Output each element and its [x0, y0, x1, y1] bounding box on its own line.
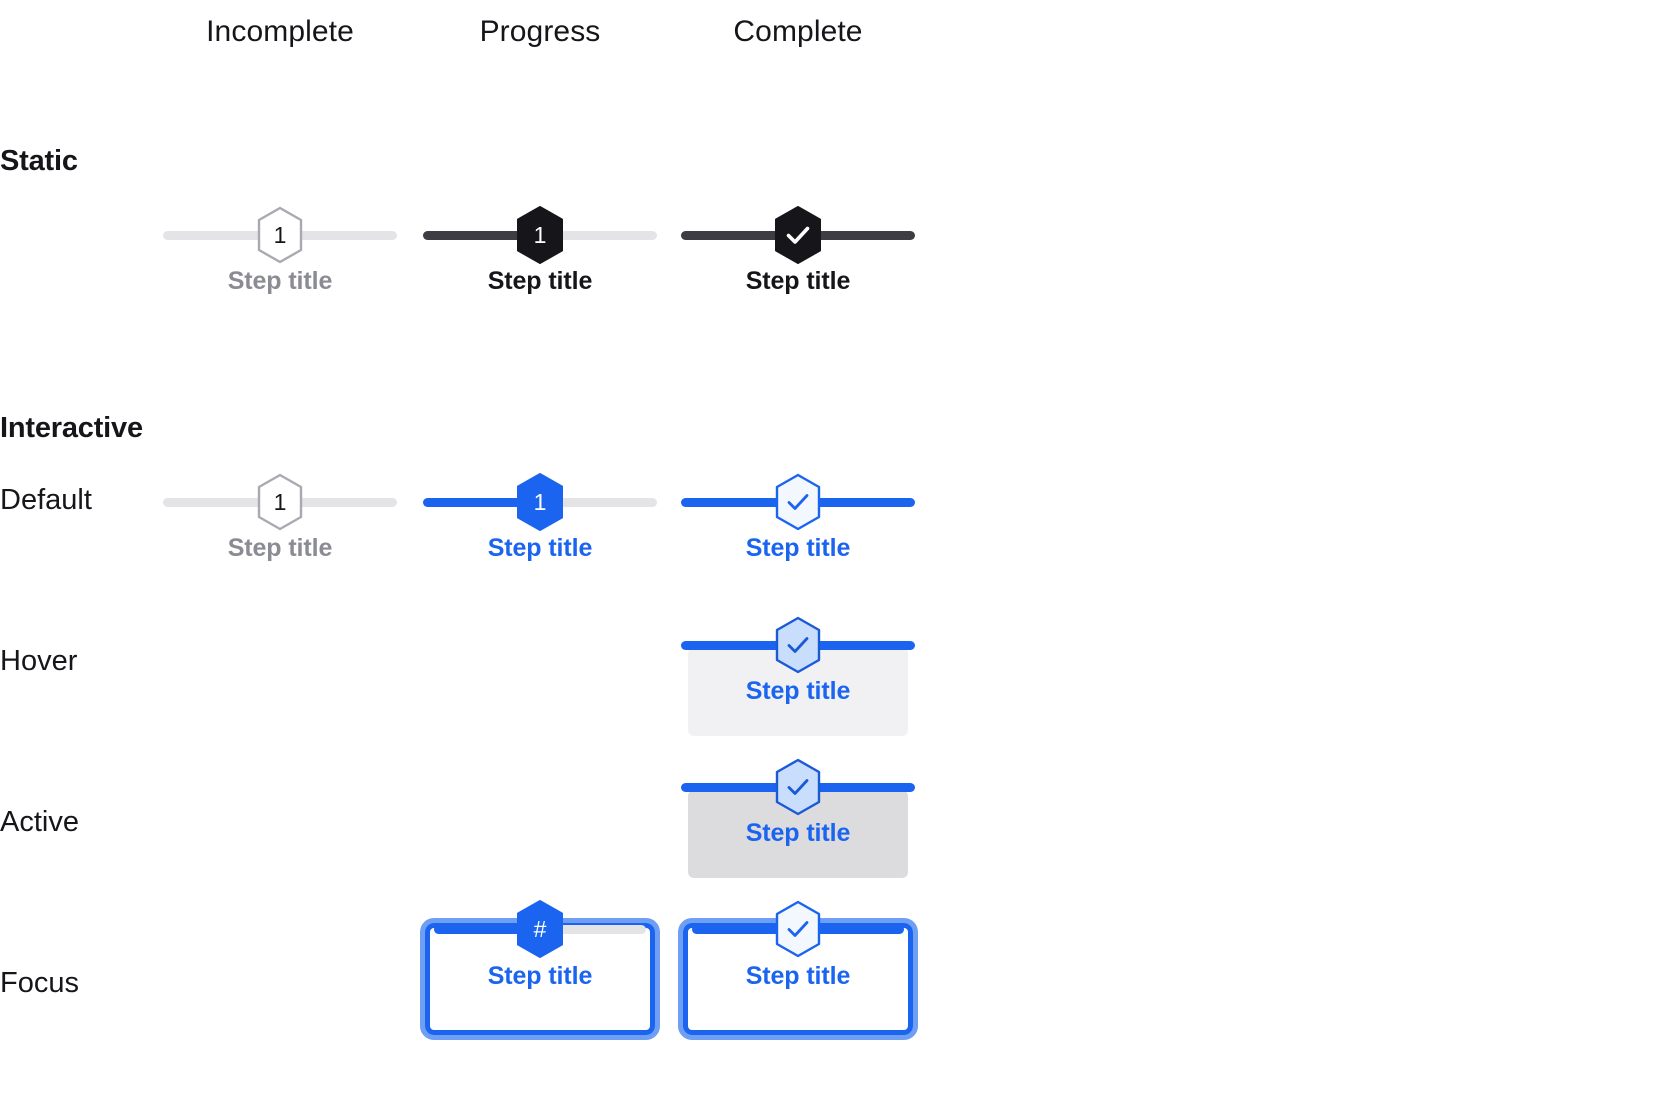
row-label-default: Default [0, 482, 92, 518]
hexagon-outline-number-icon: 1 [254, 206, 306, 264]
step-focus-progress[interactable]: # Step title [410, 898, 670, 1048]
step-hover-complete[interactable]: Step title [668, 615, 928, 745]
step-default-progress[interactable]: 1 Step title [410, 472, 670, 622]
step-static-complete: Step title [668, 205, 928, 355]
step-title: Step title [668, 817, 928, 849]
step-title: Step title [668, 265, 928, 297]
column-header-complete: Complete [668, 13, 928, 51]
step-active-complete[interactable]: Step title [668, 757, 928, 887]
step-static-incomplete: 1 Step title [150, 205, 410, 355]
hexagon-outline-check-icon [772, 758, 824, 816]
step-title: Step title [668, 675, 928, 707]
step-title: Step title [150, 532, 410, 564]
step-title: Step title [150, 265, 410, 297]
column-header-incomplete: Incomplete [150, 13, 410, 51]
step-default-incomplete[interactable]: 1 Step title [150, 472, 410, 622]
hexagon-filled-number-icon: 1 [514, 473, 566, 531]
hexagon-outline-check-icon [772, 616, 824, 674]
step-static-progress: 1 Step title [410, 205, 670, 355]
step-title: Step title [410, 960, 670, 992]
hexagon-outline-check-icon [772, 900, 824, 958]
step-title: Step title [668, 532, 928, 564]
step-focus-complete[interactable]: Step title [668, 898, 928, 1048]
row-label-focus: Focus [0, 965, 79, 1001]
step-title: Step title [668, 960, 928, 992]
step-default-complete[interactable]: Step title [668, 472, 928, 622]
hexagon-filled-number-icon: 1 [514, 206, 566, 264]
section-label-static: Static [0, 143, 78, 179]
column-header-progress: Progress [410, 13, 670, 51]
hexagon-filled-hash-icon: # [514, 900, 566, 958]
section-label-interactive: Interactive [0, 410, 143, 446]
step-title: Step title [410, 532, 670, 564]
hexagon-outline-check-icon [772, 473, 824, 531]
step-title: Step title [410, 265, 670, 297]
hexagon-outline-number-icon: 1 [254, 473, 306, 531]
hexagon-filled-check-icon [772, 206, 824, 264]
specimen-sheet: Incomplete Progress Complete Static Inte… [0, 0, 1672, 1100]
row-label-hover: Hover [0, 643, 77, 679]
row-label-active: Active [0, 804, 79, 840]
